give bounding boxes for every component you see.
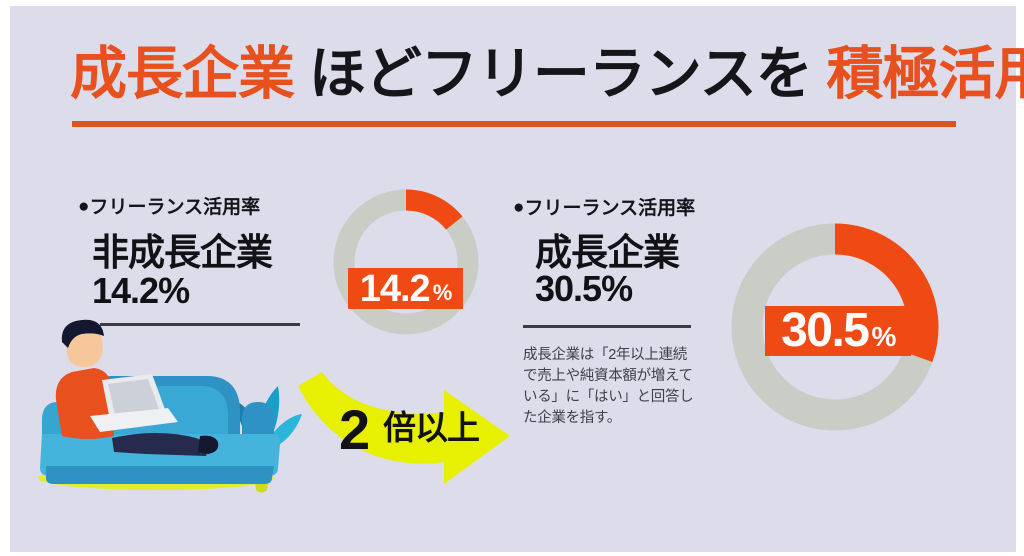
- sofa-base: [46, 466, 274, 484]
- left-stat-percent: 14.2%: [92, 270, 189, 312]
- page-title-part-2: ほどフリーランスを: [294, 42, 827, 106]
- value-chip-growth: 30.5%: [765, 306, 911, 356]
- donut-value-arc-non-growth: [406, 200, 454, 223]
- left-stat-heading-label: フリーランス活用率: [89, 197, 260, 218]
- bullet-icon: ●: [78, 196, 89, 217]
- page-title-part-1: 成長企業: [70, 42, 294, 106]
- page-title: 成長企業 ほどフリーランスを 積極活用: [70, 40, 970, 110]
- page-title-part-3: 積極活用: [827, 42, 1024, 106]
- title-underline-rule: [72, 121, 956, 127]
- left-stat-heading: ●フリーランス活用率: [78, 192, 260, 219]
- freelancer-on-sofa-illustration: [28, 316, 318, 506]
- value-chip-growth-unit: %: [869, 312, 895, 351]
- donut-chart-non-growth: [333, 189, 479, 335]
- right-stat-heading-label: フリーランス活用率: [524, 198, 695, 219]
- right-divider-rule: [523, 325, 691, 328]
- left-stat-name: 非成長企業: [92, 222, 272, 276]
- right-stat-heading: ●フリーランス活用率: [513, 193, 695, 220]
- arrow-multiplier-label: 倍以上: [383, 411, 479, 444]
- infographic-canvas: 成長企業 ほどフリーランスを 積極活用 ●フリーランス活用率 非成長企業 14.…: [0, 0, 1024, 556]
- value-chip-non-growth: 14.2%: [348, 268, 463, 309]
- value-chip-non-growth-unit: %: [430, 274, 452, 304]
- arrow-multiplier-number: 2: [339, 402, 368, 458]
- right-stat-percent: 30.5%: [535, 268, 632, 310]
- right-stat-note: 成長企業は「2年以上連続で売上や純資本額が増えている」に「はい」と回答した企業を…: [523, 345, 695, 429]
- bullet-icon: ●: [513, 197, 524, 218]
- value-chip-growth-number: 30.5: [781, 307, 868, 355]
- value-chip-non-growth-number: 14.2: [360, 270, 430, 308]
